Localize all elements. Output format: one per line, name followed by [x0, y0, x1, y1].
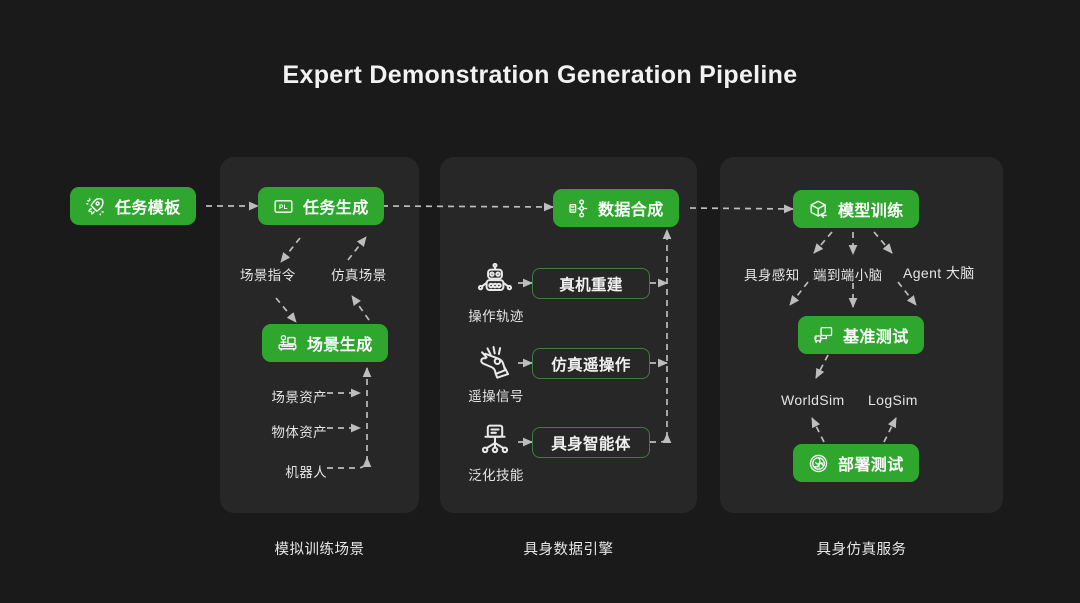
diagram-canvas: Expert Demonstration Generation Pipeline [0, 0, 1080, 603]
benchmark-screen-icon [813, 325, 834, 346]
panel-caption-embodied-data-engine: 具身数据引擎 [440, 538, 697, 559]
node-label: 数据合成 [598, 196, 664, 220]
node-label: 模型训练 [838, 197, 904, 221]
node-deployment-test[interactable]: 部署测试 [793, 444, 919, 482]
node-data-synthesis[interactable]: 数据合成 [553, 189, 679, 227]
pl-template-icon: PL [273, 196, 294, 217]
edge-label-scene-instruction: 场景指令 [240, 264, 296, 284]
edge-label-agent-brain: Agent 大脑 [903, 263, 975, 283]
node-task-generation[interactable]: PL 任务生成 [258, 187, 384, 225]
node-scene-generation[interactable]: 场景生成 [262, 324, 388, 362]
panel-caption-simulation-training-scene: 模拟训练场景 [220, 538, 419, 559]
box-simulated-teleoperation[interactable]: 仿真遥操作 [532, 348, 650, 379]
rocket-icon [85, 196, 106, 217]
node-task-template[interactable]: 任务模板 [70, 187, 196, 225]
page-title: Expert Demonstration Generation Pipeline [0, 61, 1080, 90]
box-real-machine-reconstruction[interactable]: 真机重建 [532, 268, 650, 299]
node-label: 任务生成 [303, 194, 369, 218]
glove-icon [475, 343, 515, 379]
node-label: 部署测试 [838, 451, 904, 475]
source-label-generalization-skill: 泛化技能 [455, 464, 537, 484]
input-label-robot: 机器人 [217, 461, 327, 481]
edge-label-embodied-perception: 具身感知 [744, 264, 800, 284]
edge-label-end-to-end-cerebellum: 端到端小脑 [813, 264, 883, 284]
robot-icon [475, 263, 515, 299]
edge-label-worldsim: WorldSim [781, 392, 845, 408]
deploy-globe-icon [808, 453, 829, 474]
box-embodied-agent[interactable]: 具身智能体 [532, 427, 650, 458]
data-synthesis-icon [568, 198, 589, 219]
input-label-scene-assets: 场景资产 [217, 386, 327, 406]
node-label: 场景生成 [307, 331, 373, 355]
scene-robot-icon [277, 333, 298, 354]
edge-label-simulated-scene: 仿真场景 [331, 264, 387, 284]
node-model-training[interactable]: 模型训练 [793, 190, 919, 228]
edge-label-logsim: LogSim [868, 392, 918, 408]
source-label-teleoperation-signal: 遥操信号 [455, 385, 537, 405]
cube-train-icon [808, 199, 829, 220]
node-benchmark-test[interactable]: 基准测试 [798, 316, 924, 354]
node-label: 任务模板 [115, 194, 181, 218]
svg-text:PL: PL [279, 203, 288, 210]
agent-network-icon [475, 422, 515, 458]
node-label: 基准测试 [843, 323, 909, 347]
source-label-operation-trajectory: 操作轨迹 [455, 305, 537, 325]
input-label-object-assets: 物体资产 [217, 421, 327, 441]
panel-caption-embodied-simulation-service: 具身仿真服务 [720, 538, 1003, 559]
